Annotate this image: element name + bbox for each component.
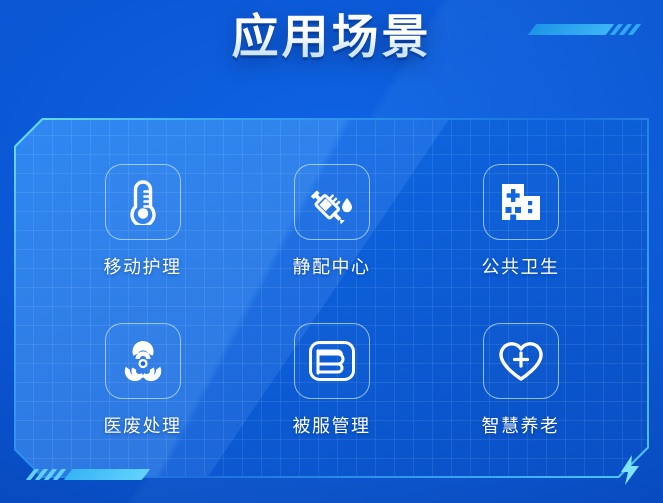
scenario-label: 静配中心 bbox=[293, 253, 371, 279]
scenario-grid: 移动护理 静配中心 bbox=[14, 118, 649, 478]
heart-plus-icon bbox=[497, 339, 545, 383]
icon-box bbox=[483, 164, 559, 240]
icon-box bbox=[294, 323, 370, 399]
linen-stack-icon bbox=[308, 340, 356, 382]
scenario-label: 公共卫生 bbox=[482, 253, 560, 279]
thermometer-icon bbox=[123, 179, 163, 225]
hospital-icon bbox=[498, 181, 544, 223]
icon-box bbox=[294, 164, 370, 240]
biohazard-icon bbox=[119, 337, 167, 385]
scenario-card-public-health[interactable]: 公共卫生 bbox=[426, 142, 615, 301]
scenario-label: 被服管理 bbox=[293, 412, 371, 438]
syringe-icon bbox=[308, 179, 356, 225]
scenario-card-smart-eldercare[interactable]: 智慧养老 bbox=[426, 301, 615, 460]
page-title-container: 应用场景 bbox=[0, 8, 663, 67]
scenario-label: 医废处理 bbox=[104, 412, 182, 438]
scenario-label: 智慧养老 bbox=[482, 412, 560, 438]
scenario-card-mobile-nursing[interactable]: 移动护理 bbox=[48, 142, 237, 301]
icon-box bbox=[105, 164, 181, 240]
page-title: 应用场景 bbox=[232, 8, 432, 67]
scenario-card-linen-management[interactable]: 被服管理 bbox=[237, 301, 426, 460]
scenario-card-iv-admixture[interactable]: 静配中心 bbox=[237, 142, 426, 301]
scenario-label: 移动护理 bbox=[104, 253, 182, 279]
icon-box bbox=[483, 323, 559, 399]
icon-box bbox=[105, 323, 181, 399]
scenario-card-medical-waste[interactable]: 医废处理 bbox=[48, 301, 237, 460]
